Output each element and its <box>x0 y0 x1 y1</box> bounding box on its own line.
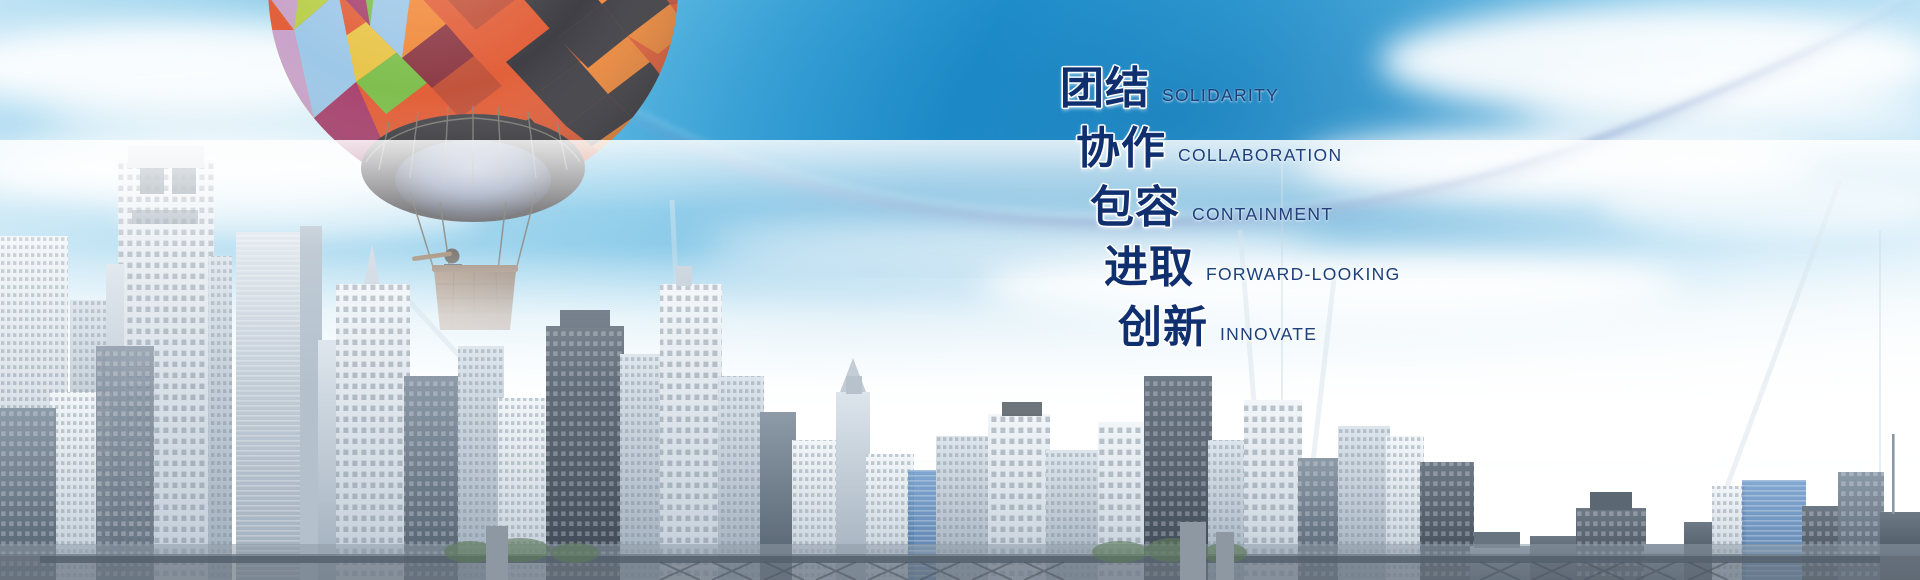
value-english-label: INNOVATE <box>1220 324 1317 345</box>
value-english-label: COLLABORATION <box>1178 145 1342 166</box>
value-item-innovate: 创新 INNOVATE <box>1118 301 1540 355</box>
value-chinese-label: 团结 <box>1060 62 1150 116</box>
value-item-forward-looking: 进取 FORWARD-LOOKING <box>1104 241 1540 295</box>
value-item-collaboration: 协作 COLLABORATION <box>1076 122 1540 176</box>
value-english-label: SOLIDARITY <box>1162 85 1279 106</box>
city-skyline <box>0 140 1920 580</box>
corporate-values-hero-banner: 团结 SOLIDARITY 协作 COLLABORATION 包容 CONTAI… <box>0 0 1920 580</box>
value-english-label: FORWARD-LOOKING <box>1206 264 1401 285</box>
corporate-values-list: 团结 SOLIDARITY 协作 COLLABORATION 包容 CONTAI… <box>1060 62 1540 360</box>
value-chinese-label: 协作 <box>1076 122 1166 176</box>
value-english-label: CONTAINMENT <box>1192 204 1333 225</box>
value-item-containment: 包容 CONTAINMENT <box>1090 181 1540 235</box>
value-chinese-label: 包容 <box>1090 181 1180 235</box>
value-chinese-label: 进取 <box>1104 241 1194 295</box>
value-chinese-label: 创新 <box>1118 301 1208 355</box>
value-item-solidarity: 团结 SOLIDARITY <box>1060 62 1540 116</box>
